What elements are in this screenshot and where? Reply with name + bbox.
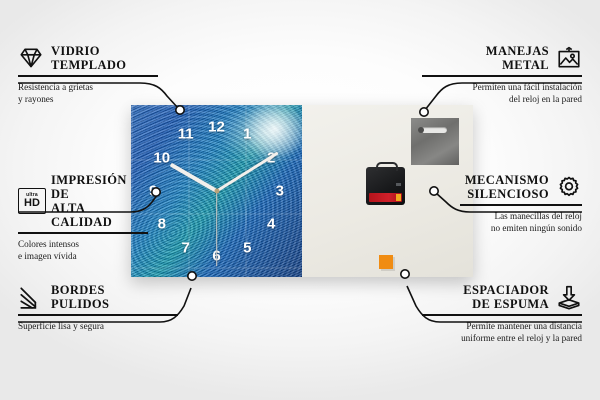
feature-rule [422,75,582,77]
feature-espaciador-espuma: Espaciador de Espuma Permite mantener un… [422,283,582,344]
feature-heading: Espaciador de Espuma [422,283,582,311]
feature-mecanismo-silencioso: Mecanismo Silencioso Las manecillas del … [460,173,582,234]
feature-heading: ultra HD Impresión de Alta Calidad [18,173,148,229]
clock-hour-1: 1 [243,127,251,142]
feature-title: Vidrio Templado [51,44,126,72]
clock-hour-5: 5 [243,240,251,255]
clock-hour-12: 12 [208,120,225,135]
hanger-hole [418,127,424,133]
feature-impresion-alta-calidad: ultra HD Impresión de Alta Calidad Color… [18,173,148,262]
feature-subtitle: Colores intensos e imagen vívida [18,238,148,263]
clock-mechanism-box [366,167,405,205]
feature-subtitle: Permiten una fácil instalación del reloj… [422,81,582,106]
feature-title: Bordes Pulidos [51,283,109,311]
feature-heading: Mecanismo Silencioso [460,173,582,201]
ultra-hd-icon-bottom: HD [24,198,40,209]
clock-hour-9: 9 [149,184,157,199]
feature-title: Impresión de Alta Calidad [51,173,148,229]
feature-title: Manejas Metal [422,44,549,72]
arrow-down-stack-icon [556,284,582,310]
feature-heading: Vidrio Templado [18,44,158,72]
feature-heading: Manejas Metal [422,44,582,72]
clock-hour-7: 7 [182,240,190,255]
feature-bordes-pulidos: Bordes Pulidos Superficie lisa y segura [18,283,178,332]
feature-subtitle: Superficie lisa y segura [18,320,178,332]
ultra-hd-icon: ultra HD [18,188,44,214]
picture-hanger-icon [556,45,582,71]
feature-subtitle: Las manecillas del reloj no emiten ningú… [460,210,582,235]
feature-rule [18,314,178,316]
clock-hour-10: 10 [153,151,170,166]
infographic-canvas: 12 1 2 3 4 5 6 7 8 9 10 11 [0,0,600,400]
diagonal-lines-icon [18,284,44,310]
feature-title: Espaciador de Espuma [422,283,549,311]
feature-heading: Bordes Pulidos [18,283,178,311]
feature-title: Mecanismo Silencioso [460,173,549,201]
product-photo: 12 1 2 3 4 5 6 7 8 9 10 11 [131,105,473,277]
clock-back-panel [302,105,473,277]
gear-icon [556,174,582,200]
clock-hour-11: 11 [178,127,194,142]
foam-spacer [379,255,393,269]
feature-rule [422,314,582,316]
clock-front-face: 12 1 2 3 4 5 6 7 8 9 10 11 [131,105,305,277]
clock-center-pin [214,189,219,194]
feature-rule [460,204,582,206]
clock-hour-8: 8 [158,216,166,231]
feature-subtitle: Permite mantener una distancia uniforme … [422,320,582,345]
clock-hour-3: 3 [276,184,284,199]
mechanism-detail [396,183,401,186]
clock-second-hand [216,191,217,267]
battery-label [369,193,402,202]
hanger-slot [421,127,447,133]
clock-hour-4: 4 [267,216,275,231]
feature-subtitle: Resistencia a grietas y rayones [18,81,158,106]
feature-rule [18,75,158,77]
mechanism-handle [376,162,398,171]
feature-vidrio-templado: Vidrio Templado Resistencia a grietas y … [18,44,158,105]
diamond-icon [18,45,44,71]
feature-manejas-metal: Manejas Metal Permiten una fácil instala… [422,44,582,105]
feature-rule [18,232,148,234]
metal-hanger-plate [411,118,459,165]
